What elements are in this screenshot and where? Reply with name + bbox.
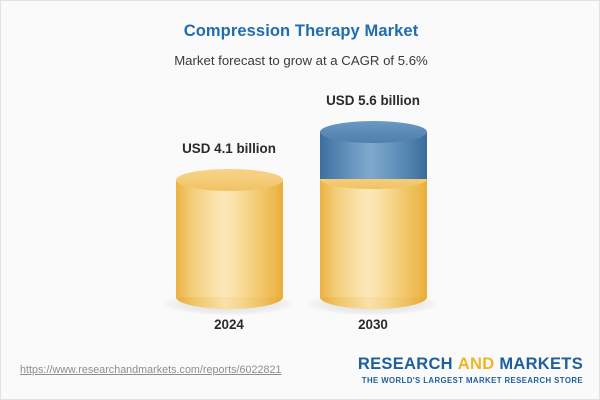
cylinder-body-yellow-2030 <box>320 179 427 297</box>
chart-plot-area: USD 4.1 billion 2024 USD 5.6 billion <box>1 1 600 346</box>
logo-tagline: THE WORLD'S LARGEST MARKET RESEARCH STOR… <box>358 376 583 385</box>
researchandmarkets-logo[interactable]: RESEARCH AND MARKETS THE WORLD'S LARGEST… <box>358 355 583 385</box>
cylinder-top-2030 <box>320 121 427 143</box>
chart-card: Compression Therapy Market Market foreca… <box>0 0 600 400</box>
bar-group-2030: USD 5.6 billion 2030 <box>273 1 473 346</box>
logo-word-and: AND <box>458 355 495 373</box>
bar-cylinder-2030 <box>320 121 427 309</box>
cylinder-body-2024 <box>176 180 283 297</box>
cylinder-top-2024 <box>176 169 283 191</box>
logo-wordmark: RESEARCH AND MARKETS <box>358 355 583 374</box>
bar-value-label-2030: USD 5.6 billion <box>273 93 473 108</box>
chart-footer: https://www.researchandmarkets.com/repor… <box>1 345 600 399</box>
report-url-link[interactable]: https://www.researchandmarkets.com/repor… <box>20 364 282 376</box>
bar-year-label-2030: 2030 <box>273 317 473 332</box>
logo-word-research: RESEARCH <box>358 355 453 373</box>
bar-cylinder-2024 <box>176 169 283 309</box>
logo-word-markets: MARKETS <box>499 355 583 373</box>
